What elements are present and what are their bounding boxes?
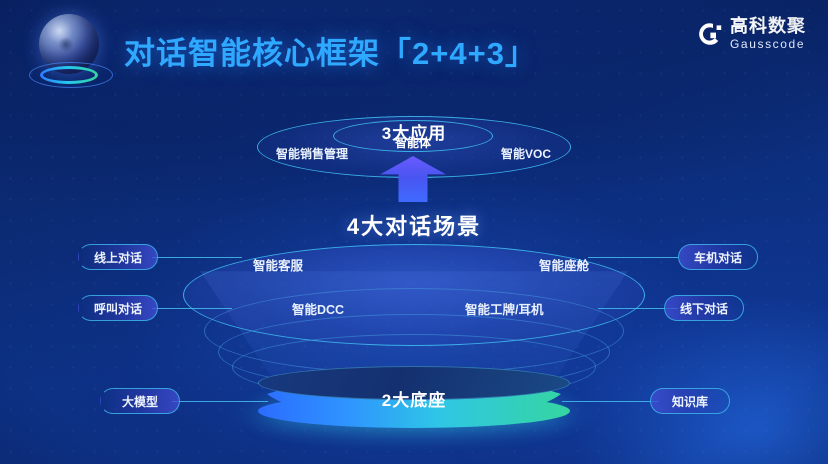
connector-left-1 [152,257,242,258]
gausscode-logo-icon [697,21,723,47]
slide-header: 对话智能核心框架「2+4+3」 高科数聚 Gausscode [0,0,828,104]
scene-label-badge-headset: 智能工牌/耳机 [465,299,543,318]
pill-in-car-dialogue[interactable]: 车机对话 [678,244,758,270]
pill-online-dialogue[interactable]: 线上对话 [78,244,158,270]
brand-logo: 高科数聚 Gausscode [697,17,806,50]
orb-glow-ring [40,66,98,84]
pill-call-dialogue[interactable]: 呼叫对话 [78,295,158,321]
connector-right-1 [588,257,678,258]
sphere-orb-icon [29,12,113,96]
framework-diagram: 3大应用 智能销售管理 智能VOC 智能体 4大对话场景 智能客服 智能座舱 智… [0,96,828,464]
brand-name-cn: 高科数聚 [730,17,806,35]
brand-logo-text: 高科数聚 Gausscode [730,17,806,50]
pill-label: 线上对话 [78,249,158,266]
pill-label: 车机对话 [678,249,758,266]
scenes-heading: 4大对话场景 [0,209,828,241]
base-heading: 2大底座 [0,386,828,411]
pill-label: 呼叫对话 [78,300,158,317]
brand-name-en: Gausscode [730,38,806,50]
application-label-sales: 智能销售管理 [276,145,348,162]
pill-label: 线下对话 [664,300,744,317]
agent-arrow: 智能体 [380,156,446,202]
pill-offline-dialogue[interactable]: 线下对话 [664,295,744,321]
slide-canvas: 对话智能核心框架「2+4+3」 高科数聚 Gausscode 3大应用 智能销售… [0,0,828,464]
scene-label-customer-service: 智能客服 [253,255,303,274]
scene-label-cockpit: 智能座舱 [539,255,589,274]
scene-label-dcc: 智能DCC [292,299,344,318]
page-title: 对话智能核心框架「2+4+3」 [124,28,537,73]
application-label-voc: 智能VOC [501,145,551,162]
agent-label: 智能体 [380,134,446,151]
connector-left-2 [152,308,232,309]
up-arrow-icon [380,156,446,202]
